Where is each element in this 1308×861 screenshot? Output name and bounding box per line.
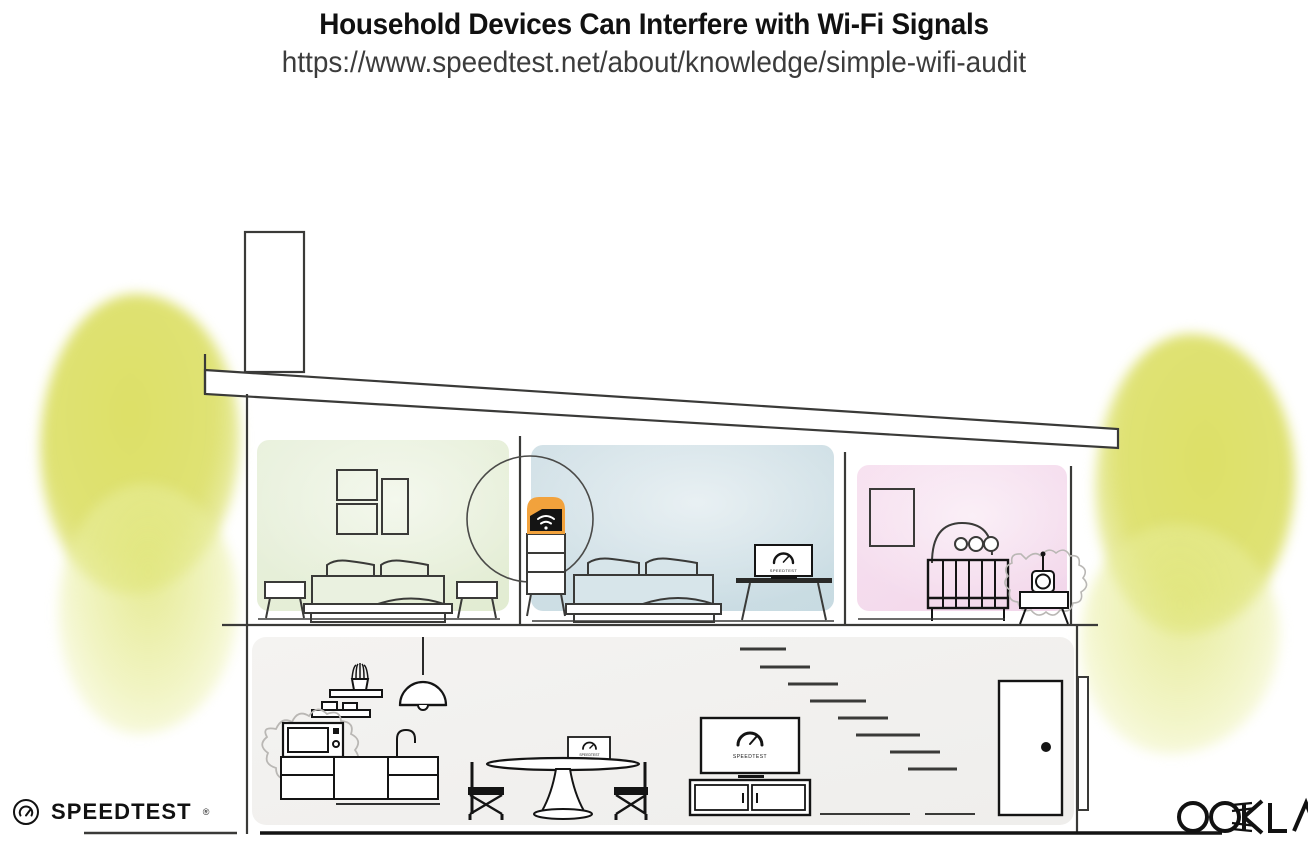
tv-stand [738, 775, 764, 778]
bed-base [566, 604, 721, 614]
header: Household Devices Can Interfere with Wi-… [0, 0, 1308, 80]
tv-screen-label: SPEEDTEST [733, 754, 767, 760]
monitor-stand [771, 576, 797, 579]
door-knob[interactable] [1041, 742, 1051, 752]
ookla-mark [1172, 796, 1308, 836]
speedtest-logo: SPEEDTEST ® [12, 798, 209, 826]
lamp-bulb [418, 705, 428, 710]
laptop-screen-label: SPEEDTEST [579, 753, 599, 757]
house-cutaway-svg: SPEEDTEST [0, 104, 1308, 764]
speedtest-wordmark: SPEEDTEST [51, 799, 192, 825]
shelf-board [330, 690, 382, 697]
bed-base [304, 604, 452, 613]
bed-pillow-right [381, 561, 428, 577]
house-illustration: SPEEDTEST [0, 104, 1308, 764]
bed-pillow-left [327, 561, 374, 577]
monitor: SPEEDTEST [755, 545, 812, 579]
side-table [1020, 592, 1068, 624]
speedtest-trademark: ® [203, 807, 210, 817]
counter-drawer-left [281, 757, 334, 775]
chimney [245, 232, 304, 372]
counter-drawer-right [388, 757, 438, 775]
infographic-page: Household Devices Can Interfere with Wi-… [0, 0, 1308, 861]
wifi-router [527, 497, 565, 534]
footer: SPEEDTEST ® [0, 780, 1308, 861]
page-title: Household Devices Can Interfere with Wi-… [46, 8, 1262, 42]
roof-slab [205, 370, 1118, 448]
mobile-bead-2 [969, 537, 983, 551]
tv-screen [701, 718, 799, 773]
bed-frame [311, 613, 445, 622]
television: SPEEDTEST [701, 718, 799, 778]
mobile-bead-3 [984, 537, 998, 551]
bed-pillow-left [588, 559, 639, 576]
dish-2 [343, 703, 357, 710]
source-url: https://www.speedtest.net/about/knowledg… [46, 46, 1262, 80]
monitor-screen-label: SPEEDTEST [770, 568, 798, 573]
ookla-logo [1172, 796, 1308, 836]
microwave-panel-btn [333, 728, 339, 734]
microwave-window [288, 728, 328, 752]
bed-pillow-right [646, 559, 697, 576]
roof-group [205, 232, 1118, 448]
speedometer-icon [12, 798, 40, 826]
microwave [283, 723, 343, 757]
mobile-bead-1 [955, 538, 967, 550]
dish-1 [322, 702, 337, 710]
shelf-board-2 [312, 710, 370, 717]
antenna-tip [1041, 552, 1046, 557]
